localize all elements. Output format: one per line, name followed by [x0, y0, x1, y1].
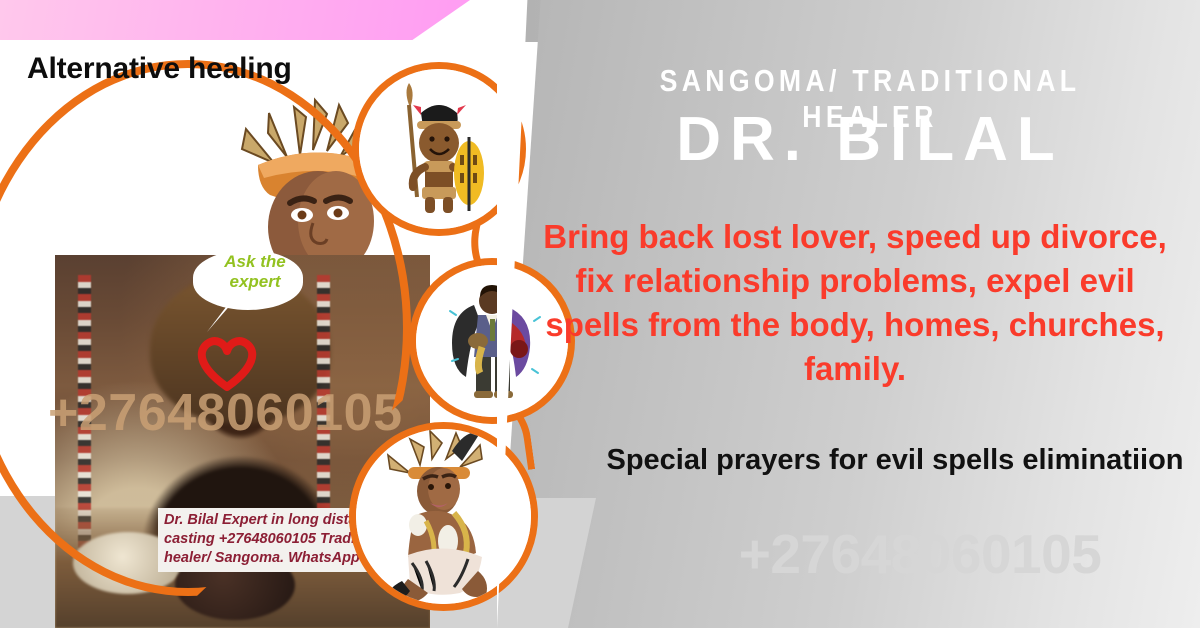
doctor-name: DR. BILAL [560, 104, 1180, 175]
services-text: Bring back lost lover, speed up divorce,… [530, 215, 1180, 391]
poster-canvas: +27648060105 Ask the expert Dr. Bilal Ex… [0, 0, 1200, 628]
phone-watermark: +27648060105 [640, 522, 1200, 586]
page-title: Alternative healing [27, 52, 292, 86]
circle-crouching-sangoma [349, 422, 538, 611]
prayers-text: Special prayers for evil spells eliminat… [600, 440, 1190, 481]
top-band-pink [0, 0, 470, 40]
